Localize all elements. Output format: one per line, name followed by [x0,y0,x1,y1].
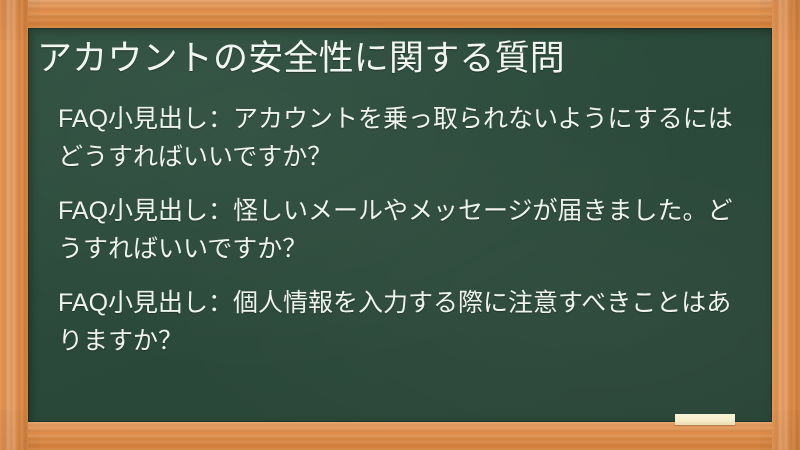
frame-rail-left [0,0,28,450]
slide-title: アカウントの安全性に関する質問 [37,34,763,84]
frame-rail-right [772,0,800,450]
faq-list: FAQ小見出し：アカウントを乗っ取られないようにするにはどうすればいいですか？ … [58,100,748,360]
blackboard-slide: アカウントの安全性に関する質問 FAQ小見出し：アカウントを乗っ取られないように… [0,0,800,450]
chalk-stick-icon [675,414,735,425]
faq-item: FAQ小見出し：個人情報を入力する際に注意すべきことはありますか？ [58,284,748,360]
faq-item: FAQ小見出し：アカウントを乗っ取られないようにするにはどうすればいいですか？ [58,100,748,176]
faq-item: FAQ小見出し：怪しいメールやメッセージが届きました。どうすればいいですか？ [58,192,748,268]
frame-rail-bottom [0,422,800,450]
chalkboard-surface: アカウントの安全性に関する質問 FAQ小見出し：アカウントを乗っ取られないように… [28,28,772,422]
frame-rail-top [0,0,800,28]
chalkboard-content: アカウントの安全性に関する質問 FAQ小見出し：アカウントを乗っ取られないように… [28,28,772,422]
